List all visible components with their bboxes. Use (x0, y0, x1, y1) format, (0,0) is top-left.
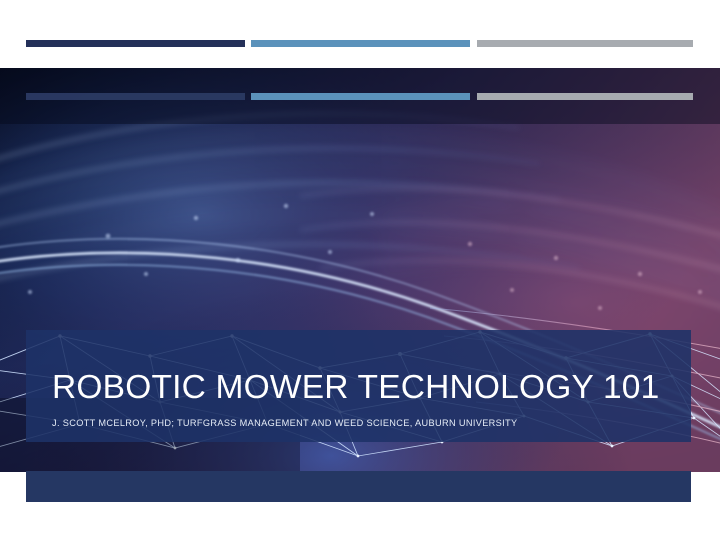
bottom-accent-band (26, 471, 691, 502)
gray-segment (477, 40, 693, 47)
blue-segment (251, 40, 470, 47)
navy-segment (26, 93, 245, 100)
navy-segment (26, 40, 245, 47)
slide-title: ROBOTIC MOWER TECHNOLOGY 101 (52, 371, 691, 405)
segment-gap (470, 93, 477, 100)
blue-segment (251, 93, 470, 100)
slide-subtitle: J. SCOTT MCELROY, PHD; TURFGRASS MANAGEM… (52, 419, 691, 428)
gray-segment (477, 93, 693, 100)
overlay-accent-rule (26, 93, 693, 100)
title-slide: ROBOTIC MOWER TECHNOLOGY 101 J. SCOTT MC… (0, 0, 720, 540)
title-band: ROBOTIC MOWER TECHNOLOGY 101 J. SCOTT MC… (26, 330, 691, 442)
top-accent-rule (26, 40, 693, 47)
segment-gap (470, 40, 477, 47)
